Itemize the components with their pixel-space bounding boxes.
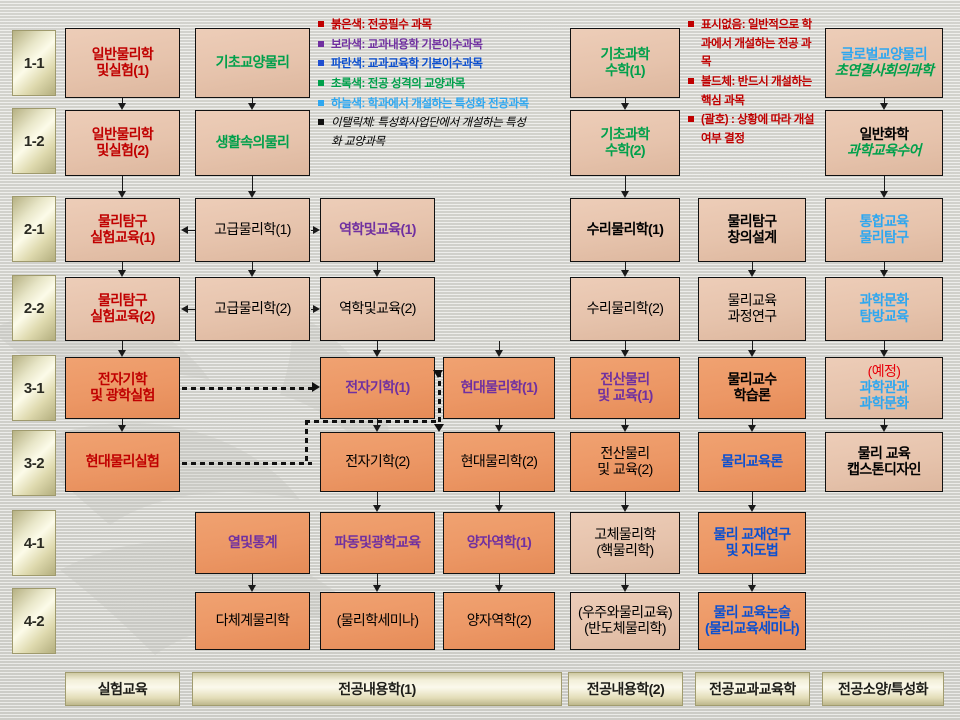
course-label-line: 및 교육(2) (597, 462, 652, 478)
flow-arrow-down (122, 341, 123, 350)
flow-arrow-down (625, 492, 626, 505)
semester-chip-2-1: 2-1 (12, 196, 56, 262)
category-pill[interactable]: 실험교육 (65, 672, 180, 706)
dotted-connector (305, 420, 438, 423)
flow-arrow-down (625, 341, 626, 350)
legend-row: 초록색: 전공 성격의 교양과목 (318, 75, 553, 94)
legend-bullet-icon (318, 21, 324, 27)
course-box[interactable]: 물리 교재연구및 지도법 (698, 512, 806, 574)
flow-arrow-down (377, 262, 378, 270)
arrow-head-icon (621, 585, 629, 592)
category-pill[interactable]: 전공내용학(2) (568, 672, 683, 706)
course-label-line: 과학교육수어 (847, 143, 921, 159)
course-box[interactable]: 다체계물리학 (195, 592, 310, 650)
course-label-line: (핵물리학) (594, 543, 655, 559)
legend-bullet-icon (318, 119, 324, 125)
course-box[interactable]: 전자기학및 광학실험 (65, 357, 180, 419)
legend-text: 보라색: 교과내용학 기본이수과목 (331, 36, 483, 55)
flow-arrow-down (499, 341, 500, 350)
legend-row: 하늘색: 학과에서 개설하는 특성화 전공과목 (318, 95, 553, 114)
flow-arrow-down (122, 262, 123, 270)
course-box[interactable]: 수리물리학(2) (570, 277, 680, 341)
course-box[interactable]: 기초과학수학(2) (570, 110, 680, 176)
semester-chip-2-2: 2-2 (12, 275, 56, 341)
legend-text: 초록색: 전공 성격의 교양과목 (331, 75, 465, 94)
course-label-line: 수학(2) (600, 143, 649, 159)
course-label-line: 수리물리학(2) (587, 301, 664, 317)
flow-arrow-down (377, 574, 378, 585)
flow-arrow-down (752, 492, 753, 505)
course-label-line: 실험교육(1) (90, 230, 154, 246)
course-label-line: 물리 교육 (847, 446, 921, 462)
arrow-head-icon (248, 191, 256, 198)
flow-arrow-down (752, 574, 753, 585)
flow-arrow-down (884, 341, 885, 350)
legend-row: 보라색: 교과내용학 기본이수과목 (318, 36, 553, 55)
dotted-connector (305, 420, 308, 465)
course-label-line: 일반화학 (847, 127, 921, 143)
arrow-head-icon (373, 585, 381, 592)
arrow-head-icon (495, 350, 503, 357)
course-label-line: (반도체물리학) (578, 621, 672, 637)
category-pill[interactable]: 전공내용학(1) (192, 672, 562, 706)
course-label-line: (우주와물리교육) (578, 605, 672, 621)
course-box[interactable]: 현대물리학(2) (443, 432, 555, 492)
course-box[interactable]: 통합교육물리탐구 (825, 198, 943, 262)
course-box[interactable]: 일반물리학및실험(2) (65, 110, 180, 176)
course-box[interactable]: (예정)과학관과과학문화 (825, 357, 943, 419)
course-label-line: 과학문화 (859, 293, 908, 309)
course-label-line: 수학(1) (600, 63, 649, 79)
course-label-line: 과학문화 (859, 396, 908, 412)
course-box[interactable]: 과학문화탐방교육 (825, 277, 943, 341)
course-label-line: 및 교육(1) (597, 388, 652, 404)
arrow-head-icon (621, 103, 629, 110)
arrow-head-icon (373, 350, 381, 357)
arrow-head-icon (373, 270, 381, 277)
arrow-head-icon (880, 191, 888, 198)
arrow-head-icon (248, 270, 256, 277)
arrow-head-icon (748, 505, 756, 512)
course-label-line: 학습론 (727, 388, 776, 404)
course-label-line: 탐방교육 (859, 309, 908, 325)
category-pill[interactable]: 전공교과교육학 (695, 672, 810, 706)
legend-row: 파란색: 교과교육학 기본이수과목 (318, 55, 553, 74)
arrow-head-icon (118, 191, 126, 198)
flow-arrow-down (122, 176, 123, 191)
course-box[interactable]: 물리 교육논술(물리교육세미나) (698, 592, 806, 650)
course-box[interactable]: 고급물리학(1) (195, 198, 310, 262)
arrow-head-icon (312, 382, 320, 392)
course-box[interactable]: 현대물리실험 (65, 432, 180, 492)
arrow-head-icon (748, 350, 756, 357)
dotted-connector (182, 387, 312, 390)
course-label-line: 물리교육론 (721, 454, 782, 470)
course-label-line: 다체계물리학 (216, 613, 290, 629)
semester-chip-3-2: 3-2 (12, 430, 56, 496)
arrow-head-icon (118, 350, 126, 357)
arrow-head-icon (181, 305, 188, 313)
arrow-head-icon (433, 370, 443, 378)
course-label-line: 물리교수 (727, 372, 776, 388)
arrow-head-icon (313, 226, 320, 234)
arrow-head-icon (621, 191, 629, 198)
legend-text: 붉은색: 전공필수 과목 (331, 16, 432, 35)
arrow-head-icon (621, 425, 629, 432)
course-label-line: 과정연구 (727, 309, 776, 325)
arrow-head-icon (434, 424, 444, 432)
legend-bullet-icon (318, 100, 324, 106)
flow-arrow-down (252, 262, 253, 270)
course-box[interactable]: 물리 교육캡스톤디자인 (825, 432, 943, 492)
course-label-line: 전산물리 (597, 372, 652, 388)
semester-chip-3-1: 3-1 (12, 355, 56, 421)
legend-bullet-icon (688, 78, 694, 84)
course-label-line: 글로벌교양물리 (835, 47, 933, 63)
arrow-head-icon (880, 350, 888, 357)
arrow-head-icon (621, 270, 629, 277)
course-label-line: 일반물리학 (92, 127, 153, 143)
course-label-line: 통합교육 (859, 214, 908, 230)
course-box[interactable]: 고체물리학(핵물리학) (570, 512, 680, 574)
flow-arrow-down (499, 574, 500, 585)
course-box[interactable]: (우주와물리교육)(반도체물리학) (570, 592, 680, 650)
legend-bullet-icon (318, 41, 324, 47)
course-label-line: 및실험(2) (92, 143, 153, 159)
arrow-head-icon (880, 425, 888, 432)
arrow-head-icon (373, 425, 381, 432)
course-label-line: 물리 교육논술 (705, 605, 799, 621)
arrow-head-icon (313, 305, 320, 313)
legend-row: (괄호) : 상황에 따라 개설 여부 결정 (688, 111, 818, 148)
legend-row: 볼드체: 반드시 개설하는 핵심 과목 (688, 73, 818, 110)
course-label-line: 물리교육 (727, 293, 776, 309)
arrow-head-icon (248, 103, 256, 110)
legend-bullet-icon (318, 60, 324, 66)
arrow-head-icon (748, 270, 756, 277)
flow-arrow-down (752, 262, 753, 270)
flow-arrow-down (752, 341, 753, 350)
course-box[interactable]: 글로벌교양물리초연결사회의과학 (825, 28, 943, 98)
legend-notation-key: 표시없음: 일반적으로 학과에서 개설하는 전공 과목볼드체: 반드시 개설하는… (688, 16, 818, 149)
arrow-head-icon (118, 425, 126, 432)
course-label-line: 고급물리학(1) (214, 222, 291, 238)
arrow-head-icon (248, 585, 256, 592)
course-label-line: 물리탐구 (90, 214, 154, 230)
course-label-line: 현대물리실험 (86, 454, 160, 470)
course-label-line: 열및통계 (228, 535, 277, 551)
course-label-line: (예정) (859, 364, 908, 380)
course-box[interactable]: 전산물리및 교육(1) (570, 357, 680, 419)
flow-arrow-down (499, 492, 500, 505)
course-label-line: 현대물리학(1) (461, 380, 538, 396)
course-box[interactable]: 기초과학수학(1) (570, 28, 680, 98)
course-box[interactable]: 물리탐구창의설계 (698, 198, 806, 262)
legend-bullet-icon (688, 21, 694, 27)
course-label-line: 실험교육(2) (90, 309, 154, 325)
course-label-line: 기초교양물리 (216, 55, 290, 71)
arrow-head-icon (880, 103, 888, 110)
dotted-connector (182, 462, 312, 465)
course-label-line: 전자기학(2) (345, 454, 409, 470)
arrow-head-icon (621, 350, 629, 357)
legend-row: 표시없음: 일반적으로 학과에서 개설하는 전공 과목 (688, 16, 818, 72)
legend-text: 파란색: 교과교육학 기본이수과목 (331, 55, 483, 74)
course-box[interactable]: 전산물리및 교육(2) (570, 432, 680, 492)
course-label-line: 초연결사회의과학 (835, 63, 933, 79)
course-label-line: 물리 교재연구 (714, 527, 791, 543)
course-box[interactable]: 전자기학(2) (320, 432, 435, 492)
arrow-head-icon (748, 585, 756, 592)
course-label-line: 현대물리학(2) (461, 454, 538, 470)
course-box[interactable]: 양자역학(1) (443, 512, 555, 574)
course-box[interactable]: 고급물리학(2) (195, 277, 310, 341)
semester-chip-4-2: 4-2 (12, 588, 56, 654)
dotted-connector (438, 372, 441, 422)
flow-arrow-horizontal (188, 309, 195, 310)
flow-arrow-down (377, 341, 378, 350)
course-box[interactable]: 수리물리학(1) (570, 198, 680, 262)
course-label-line: 전산물리 (597, 446, 652, 462)
legend-text: (괄호) : 상황에 따라 개설 여부 결정 (701, 111, 818, 148)
course-box[interactable]: 일반화학과학교육수어 (825, 110, 943, 176)
course-box[interactable]: 물리교수학습론 (698, 357, 806, 419)
flow-arrow-down (252, 574, 253, 585)
course-box[interactable]: 물리교육과정연구 (698, 277, 806, 341)
course-label-line: 전자기학 (90, 372, 155, 388)
arrow-head-icon (621, 505, 629, 512)
course-label-line: 창의설계 (727, 230, 776, 246)
legend-color-key: 붉은색: 전공필수 과목보라색: 교과내용학 기본이수과목파란색: 교과교육학 … (318, 16, 553, 152)
flow-arrow-down (252, 176, 253, 191)
course-label-line: 과학관과 (859, 380, 908, 396)
course-label-line: 기초과학 (600, 47, 649, 63)
arrow-head-icon (118, 270, 126, 277)
course-box[interactable]: 물리교육론 (698, 432, 806, 492)
arrow-head-icon (495, 585, 503, 592)
course-box[interactable]: 파동및광학교육 (320, 512, 435, 574)
course-box[interactable]: 현대물리학(1) (443, 357, 555, 419)
course-label-line: 및실험(1) (92, 63, 153, 79)
course-box[interactable]: 물리탐구실험교육(2) (65, 277, 180, 341)
semester-chip-4-1: 4-1 (12, 510, 56, 576)
course-label-line: 일반물리학 (92, 47, 153, 63)
course-box[interactable]: 물리탐구실험교육(1) (65, 198, 180, 262)
legend-text: 볼드체: 반드시 개설하는 핵심 과목 (701, 73, 818, 110)
course-label-line: (물리학세미나) (337, 613, 419, 629)
course-label-line: 및 광학실험 (90, 388, 155, 404)
legend-bullet-icon (688, 116, 694, 122)
course-box[interactable]: 일반물리학및실험(1) (65, 28, 180, 98)
arrow-head-icon (495, 425, 503, 432)
course-label-line: 역학및교육(1) (339, 222, 416, 238)
course-label-line: 물리탐구 (90, 293, 154, 309)
arrow-head-icon (880, 270, 888, 277)
course-box[interactable]: 전자기학(1) (320, 357, 435, 419)
course-label-line: 및 지도법 (714, 543, 791, 559)
course-label-line: 캡스톤디자인 (847, 462, 921, 478)
course-label-line: 물리탐구 (727, 214, 776, 230)
flow-arrow-down (625, 176, 626, 191)
course-label-line: 기초과학 (600, 127, 649, 143)
arrow-head-icon (748, 425, 756, 432)
arrow-head-icon (495, 505, 503, 512)
arrow-head-icon (373, 505, 381, 512)
semester-chip-1-2: 1-2 (12, 108, 56, 174)
course-box[interactable]: 역학및교육(1) (320, 198, 435, 262)
course-label-line: (물리교육세미나) (705, 621, 799, 637)
course-label-line: 파동및광학교육 (335, 535, 421, 551)
course-label-line: 양자역학(1) (467, 535, 531, 551)
course-label-line: 물리탐구 (859, 230, 908, 246)
legend-bullet-icon (318, 80, 324, 86)
course-label-line: 전자기학(1) (345, 380, 409, 396)
arrow-head-icon (118, 103, 126, 110)
semester-chip-1-1: 1-1 (12, 30, 56, 96)
course-box[interactable]: 역학및교육(2) (320, 277, 435, 341)
course-label-line: 수리물리학(1) (587, 222, 664, 238)
course-label-line: 양자역학(2) (467, 613, 531, 629)
course-label-line: 고급물리학(2) (214, 301, 291, 317)
legend-text: 표시없음: 일반적으로 학과에서 개설하는 전공 과목 (701, 16, 818, 72)
arrow-head-icon (181, 226, 188, 234)
flow-arrow-horizontal (188, 230, 195, 231)
flow-arrow-down (625, 574, 626, 585)
legend-row: 이탤릭체: 특성화사업단에서 개설하는 특성화 교양과목 (318, 114, 553, 151)
flow-arrow-down (377, 492, 378, 505)
course-box[interactable]: 양자역학(2) (443, 592, 555, 650)
course-box[interactable]: 열및통계 (195, 512, 310, 574)
category-pill[interactable]: 전공소양/특성화 (822, 672, 944, 706)
course-label-line: 역학및교육(2) (339, 301, 416, 317)
flow-arrow-down (884, 262, 885, 270)
course-label-line: 생활속의물리 (216, 135, 290, 151)
flow-arrow-down (625, 262, 626, 270)
course-box[interactable]: 기초교양물리 (195, 28, 310, 98)
flow-arrow-down (884, 176, 885, 191)
legend-text: 하늘색: 학과에서 개설하는 특성화 전공과목 (331, 95, 529, 114)
legend-text: 이탤릭체: 특성화사업단에서 개설하는 특성화 교양과목 (331, 114, 531, 151)
course-label-line: 고체물리학 (594, 527, 655, 543)
legend-row: 붉은색: 전공필수 과목 (318, 16, 553, 35)
course-box[interactable]: (물리학세미나) (320, 592, 435, 650)
course-box[interactable]: 생활속의물리 (195, 110, 310, 176)
